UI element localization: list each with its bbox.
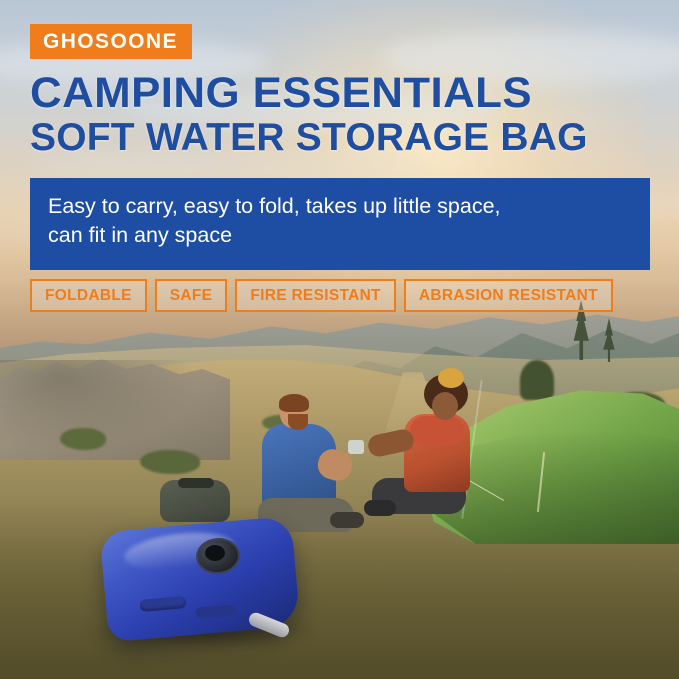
bush (60, 428, 106, 450)
bush (140, 450, 200, 474)
feature-tag-safe: SAFE (155, 279, 228, 312)
page-subtitle: SOFT WATER STORAGE BAG (30, 118, 588, 158)
man-beard (288, 414, 308, 430)
brand-badge: GHOSOONE (30, 24, 192, 59)
feature-tag-foldable: FOLDABLE (30, 279, 147, 312)
man-hair (279, 394, 309, 412)
man-shoe (330, 512, 364, 528)
bag-cap-opening (205, 545, 225, 561)
description-line-1: Easy to carry, easy to fold, takes up li… (30, 178, 650, 221)
feature-tag-list: FOLDABLE SAFE FIRE RESISTANT ABRASION RE… (30, 279, 621, 312)
feature-tag-abrasion-resistant: ABRASION RESISTANT (404, 279, 613, 312)
woman-top (410, 416, 464, 446)
woman-hair-bun (438, 368, 464, 388)
description-line-2: can fit in any space (30, 221, 650, 250)
page-title: CAMPING ESSENTIALS (30, 72, 532, 116)
woman-shoe (364, 500, 396, 516)
cup (348, 440, 364, 454)
description-banner: Easy to carry, easy to fold, takes up li… (30, 178, 650, 270)
product-poster: GHOSOONE CAMPING ESSENTIALS SOFT WATER S… (0, 0, 679, 679)
woman-head (432, 392, 458, 420)
feature-tag-fire-resistant: FIRE RESISTANT (235, 279, 396, 312)
backpack-strap (178, 478, 214, 488)
